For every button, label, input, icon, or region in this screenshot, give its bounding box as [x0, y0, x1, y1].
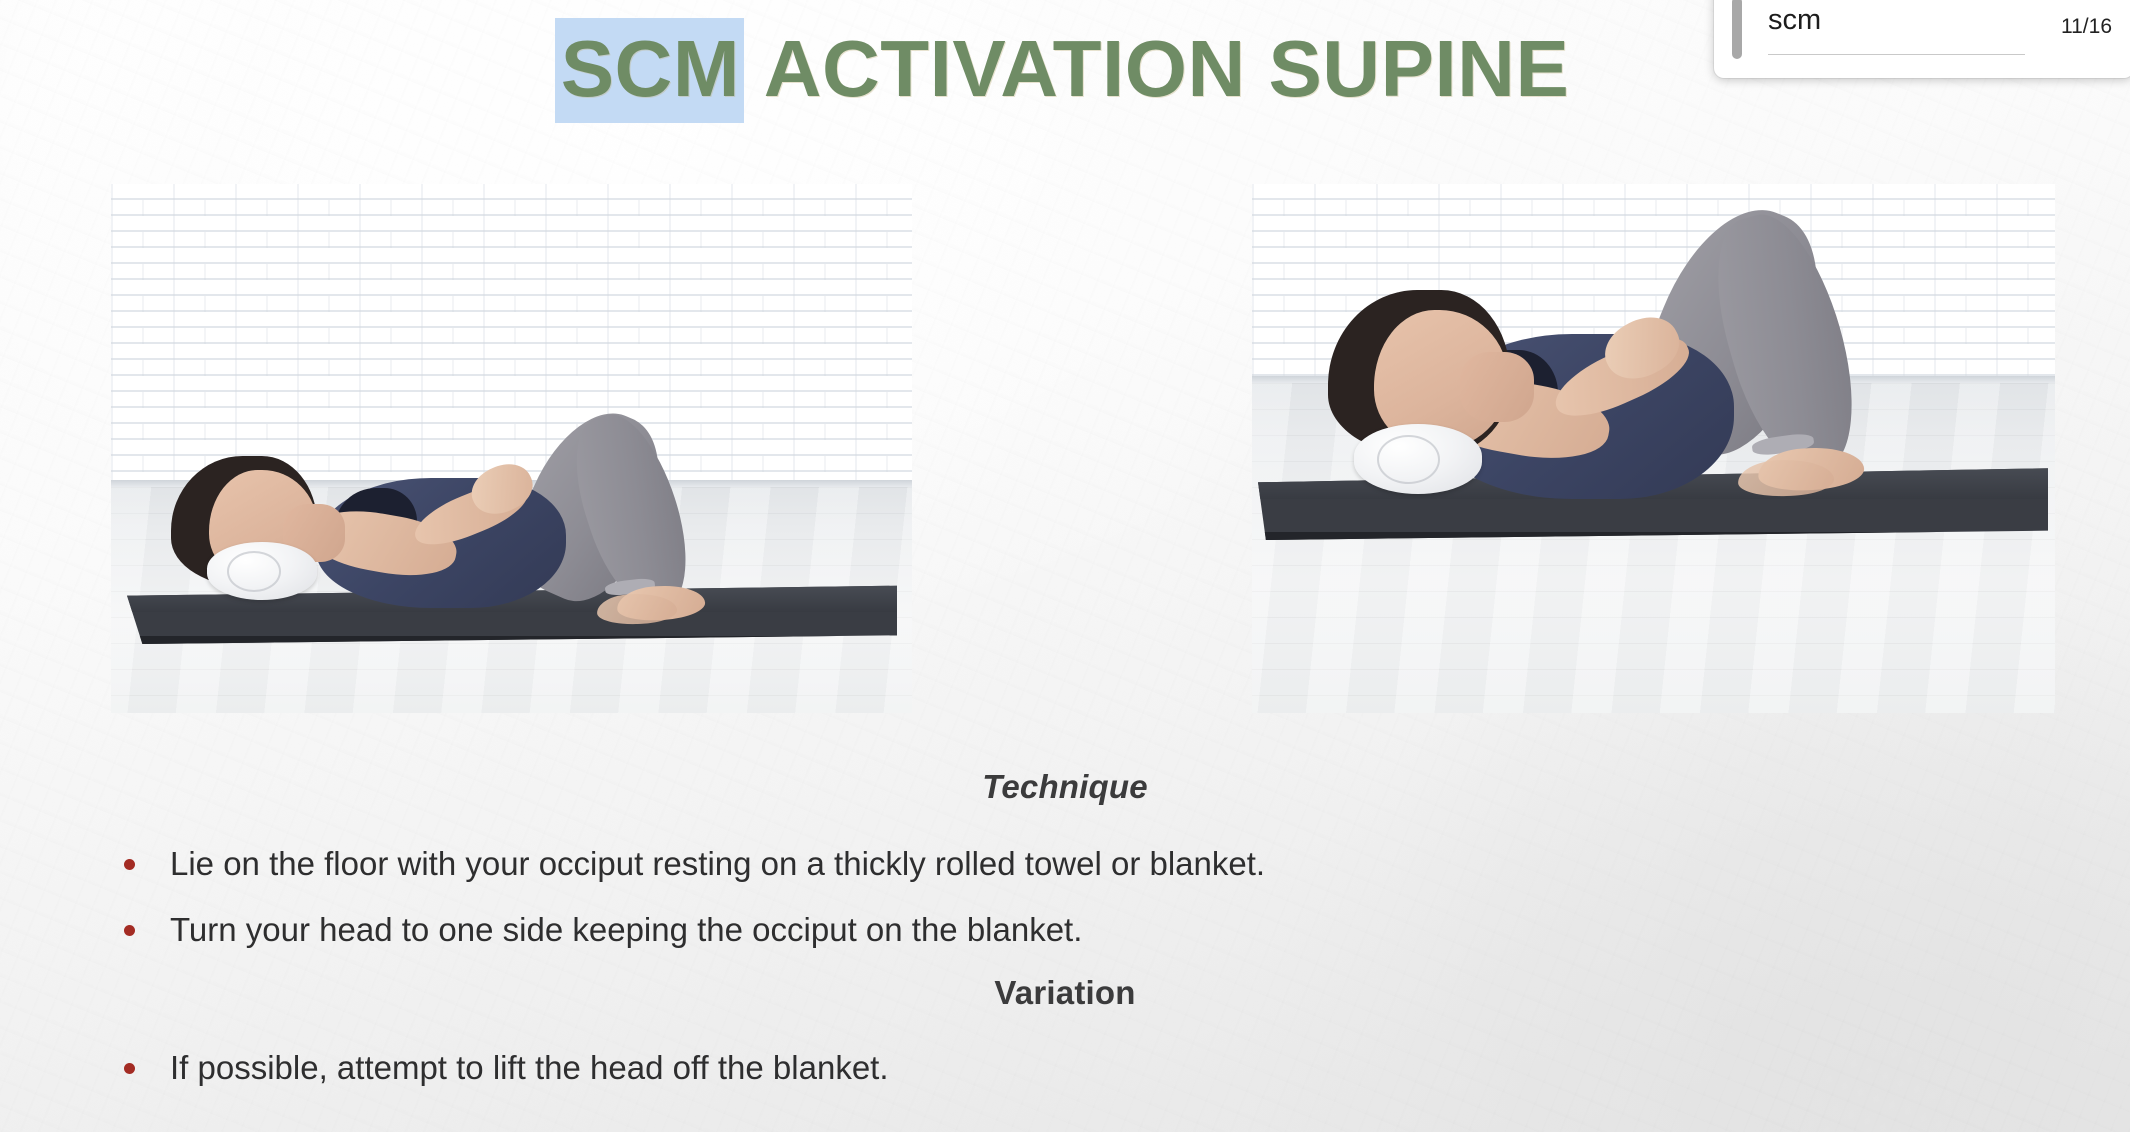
- bullet-text: If possible, attempt to lift the head of…: [170, 1046, 889, 1090]
- bullet-text: Turn your head to one side keeping the o…: [170, 908, 1082, 952]
- brick-wall: [111, 184, 912, 484]
- exercise-photo-closeup: [1252, 184, 2055, 713]
- neck: [1460, 352, 1534, 422]
- bullet-dot-icon: [124, 925, 135, 936]
- rolled-towel: [1354, 424, 1482, 494]
- exercise-photo-wide: [111, 184, 912, 713]
- technique-heading: Technique: [0, 768, 2130, 806]
- title-search-highlight: SCM: [555, 18, 744, 123]
- brick-wall-stagger: [111, 184, 912, 484]
- search-field-wrapper[interactable]: scm: [1768, 6, 2051, 55]
- technique-bullet-list: Lie on the floor with your occiput resti…: [0, 842, 2130, 952]
- bullet-dot-icon: [124, 1063, 135, 1074]
- find-in-page-panel[interactable]: scm 11/16: [1714, 0, 2130, 78]
- list-item: Lie on the floor with your occiput resti…: [0, 842, 2130, 886]
- page-title: SCM ACTIVATION SUPINE: [561, 22, 1570, 116]
- variation-bullet-list: If possible, attempt to lift the head of…: [0, 1046, 2130, 1090]
- bullet-dot-icon: [124, 859, 135, 870]
- slide-body: Technique Lie on the floor with your occ…: [0, 740, 2130, 1113]
- rolled-towel: [207, 542, 317, 600]
- photo-scene-wide: [111, 184, 912, 713]
- bullet-text: Lie on the floor with your occiput resti…: [170, 842, 1265, 886]
- search-match-counter: 11/16: [2061, 15, 2112, 39]
- list-item: If possible, attempt to lift the head of…: [0, 1046, 2130, 1090]
- drag-handle-icon[interactable]: [1732, 0, 1742, 59]
- title-remainder: ACTIVATION SUPINE: [744, 24, 1569, 113]
- search-input[interactable]: scm: [1768, 6, 2051, 55]
- presentation-slide: SCM ACTIVATION SUPINE: [0, 0, 2130, 1132]
- variation-heading: Variation: [0, 974, 2130, 1012]
- photo-scene-closeup: [1252, 184, 2055, 713]
- list-item: Turn your head to one side keeping the o…: [0, 908, 2130, 952]
- search-input-underline: [1768, 54, 2025, 55]
